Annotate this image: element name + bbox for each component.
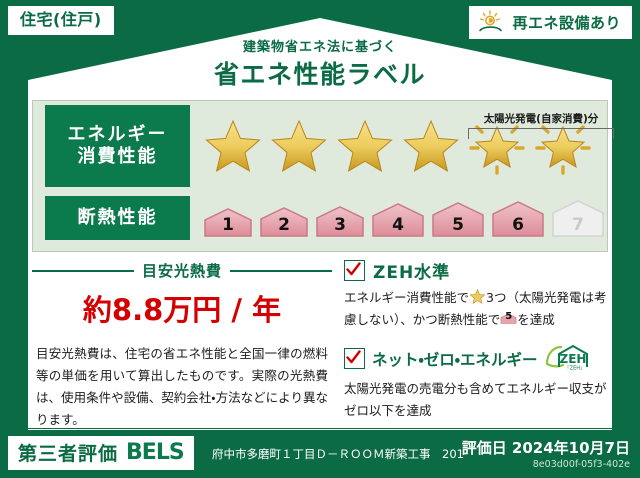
insulation-level-6: 6 [490,199,546,238]
zeh-block: ZEH水準 エネルギー消費性能で3つ（太陽光発電は考慮しない）、かつ断熱性能で5… [344,258,608,422]
divider-left [32,270,134,272]
star-filled [268,115,330,177]
checkbox-checked-icon [344,260,365,281]
solar-consumption-bracket: 太陽光発電(自家消費)分 [468,111,614,139]
inline-star-icon [469,290,486,305]
utility-cost-note: 目安光熱費は、住宅の省エネ性能と全国一律の燃料等の単価を用いて算出したものです。… [32,343,332,431]
insulation-level-7: 7 [550,198,606,238]
insulation-level-scale: 1 2 3 4 5 [202,198,606,238]
net-zero-energy-label: ネット・ゼロ・エネルギー [372,348,538,370]
bracket-line [468,128,614,139]
divider-right [230,270,332,272]
zeh-standard-row: ZEH水準 [344,258,608,283]
solar-bracket-label: 太陽光発電(自家消費)分 [468,111,614,126]
insulation-level-3: 3 [314,204,366,238]
insulation-level-1: 1 [202,206,254,238]
svg-text:ZEH: ZEH [559,352,586,366]
label-title: 省エネ性能ラベル [0,55,640,91]
insulation-level-5: 5 [430,200,486,238]
zeh-standard-body: エネルギー消費性能で3つ（太陽光発電は考慮しない）、かつ断熱性能で5を達成 [344,287,608,331]
inline-insulation-badge: 5 [500,310,517,327]
renewable-badge-label: 再エネ設備あり [512,12,621,33]
sun-icon [477,10,505,34]
utility-cost-value: 約8.8万円 / 年 [32,287,332,329]
evaluation-id: 8e03d00f-05f3-402e [462,459,630,470]
insulation-performance-row: 断熱性能 1 2 3 4 [33,196,606,240]
evaluation-date: 評価日 2024年10月7日 [462,437,630,458]
house-type-tag: 住宅(住戸) [8,6,114,35]
utility-cost-title: 目安光熱費 [142,260,222,281]
utility-cost-block: 目安光熱費 約8.8万円 / 年 目安光熱費は、住宅の省エネ性能と全国一律の燃料… [32,258,332,431]
star-filled [202,115,264,177]
bels-logo: 第三者評価 BELS [8,436,194,470]
renewable-equipment-badge: 再エネ設備あり [469,6,632,39]
property-address: 府中市多磨町１丁目Ｄ－ＲＯＯＭ新築工事 201 [212,446,464,462]
checkbox-checked-icon [344,348,365,369]
insulation-performance-label: 断熱性能 [45,196,190,240]
footer: 第三者評価 BELS 府中市多磨町１丁目Ｄ－ＲＯＯＭ新築工事 201 評価日 2… [0,430,640,478]
star-filled [400,115,462,177]
evaluation-info: 評価日 2024年10月7日 8e03d00f-05f3-402e [462,437,630,470]
net-zero-energy-row: ネット・ゼロ・エネルギー ZEH 『ZEH』 [344,344,608,374]
footer-divider [20,428,620,429]
details-section: 目安光熱費 約8.8万円 / 年 目安光熱費は、住宅の省エネ性能と全国一律の燃料… [32,258,608,410]
energy-label-card: 住宅(住戸) 再エネ設備あり 建築物省エネ法に基づく 省エネ性能ラベル [0,0,640,478]
net-zero-energy-body: 太陽光発電の売電分も含めてエネルギー収支がゼロ以下を達成 [344,378,608,422]
bels-jp-label: 第三者評価 [18,439,118,466]
zeh-standard-label: ZEH水準 [373,258,450,283]
utility-cost-title-row: 目安光熱費 [32,260,332,281]
insulation-level-4: 4 [370,201,426,238]
bels-en-label: BELS [126,440,184,465]
insulation-level-2: 2 [258,205,310,238]
star-filled [334,115,396,177]
performance-panel: エネルギー 消費性能 [32,100,608,252]
svg-text:『ZEH』: 『ZEH』 [564,364,584,370]
energy-performance-row: エネルギー 消費性能 [33,105,594,187]
zeh-logo-icon: ZEH 『ZEH』 [545,344,591,374]
energy-performance-label: エネルギー 消費性能 [45,105,190,187]
